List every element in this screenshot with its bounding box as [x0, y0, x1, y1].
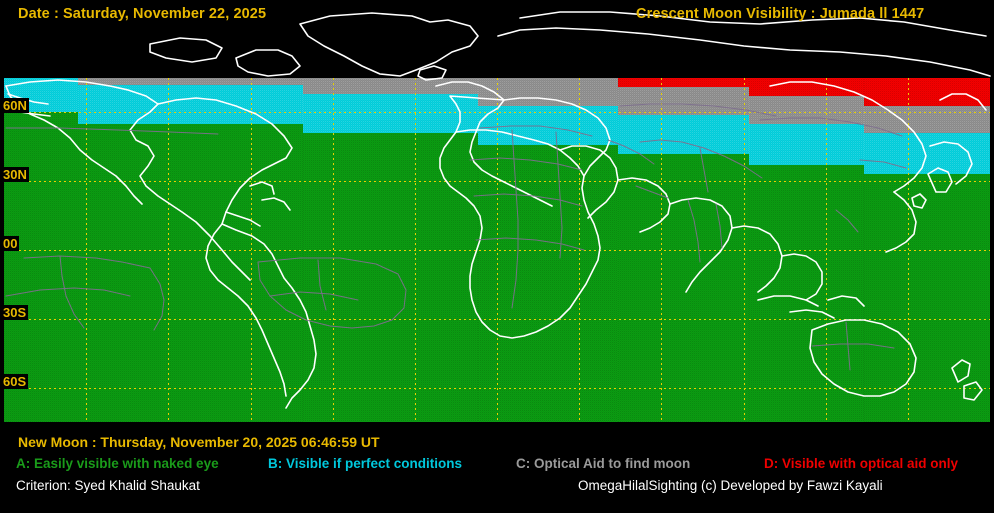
zone-dither-texture [618, 78, 749, 87]
zone-c-segment [749, 96, 864, 124]
zone-dither-texture [749, 96, 864, 124]
zone-a-segment [478, 145, 618, 422]
zone-b-segment [618, 115, 749, 154]
legend-item-a: A: Easily visible with naked eye [16, 456, 219, 471]
latitude-label-00: 00 [2, 236, 19, 251]
zone-a-segment [303, 133, 478, 422]
zone-a-segment [618, 154, 749, 422]
zone-a-segment [78, 124, 303, 422]
legend-item-d: D: Visible with optical aid only [764, 456, 958, 471]
date-label: Date : Saturday, November 22, 2025 [18, 6, 266, 22]
zone-dither-texture [78, 85, 303, 124]
zone-dither-texture [618, 115, 749, 154]
visibility-map-app: Date : Saturday, November 22, 2025 Cresc… [0, 0, 994, 513]
zone-dither-texture [78, 124, 303, 422]
zone-dither-texture [864, 174, 990, 422]
criterion-label: Criterion: Syed Khalid Shaukat [16, 478, 200, 493]
developer-credit-label: OmegaHilalSighting (c) Developed by Fawz… [578, 478, 883, 493]
zone-c-segment [864, 106, 990, 134]
zone-b-segment [303, 94, 478, 133]
zone-dither-texture [618, 154, 749, 422]
zone-dither-texture [303, 78, 478, 94]
header-bar: Date : Saturday, November 22, 2025 Cresc… [0, 0, 994, 30]
zone-b-segment [749, 124, 864, 165]
latitude-label-60N: 60N [2, 98, 29, 113]
zone-dither-texture [749, 124, 864, 165]
zone-b-segment [478, 106, 618, 145]
zone-dither-texture [864, 133, 990, 174]
legend: A: Easily visible with naked eye B: Visi… [0, 456, 994, 476]
zone-dither-texture [864, 106, 990, 134]
zone-dither-texture [303, 133, 478, 422]
zone-dither-texture [749, 165, 864, 422]
latitude-label-60S: 60S [2, 374, 28, 389]
zone-d-segment [864, 78, 990, 106]
credit-line: Criterion: Syed Khalid Shaukat OmegaHila… [0, 478, 994, 498]
zone-dither-texture [618, 87, 749, 115]
zone-b-segment [864, 133, 990, 174]
zone-d-segment [618, 78, 749, 87]
map-plot-area [4, 78, 990, 422]
zone-dither-texture [478, 145, 618, 422]
zone-dither-texture [864, 78, 990, 106]
zone-dither-texture [749, 78, 864, 96]
latitude-label-30S: 30S [2, 305, 28, 320]
legend-item-c: C: Optical Aid to find moon [516, 456, 690, 471]
zone-c-segment [618, 87, 749, 115]
zone-dither-texture [303, 94, 478, 133]
zone-a-segment [864, 174, 990, 422]
zone-d-segment [749, 78, 864, 96]
footer-bar: New Moon : Thursday, November 20, 2025 0… [0, 428, 994, 513]
zone-dither-texture [478, 78, 618, 106]
latitude-label-30N: 30N [2, 167, 29, 182]
zone-b-segment [78, 85, 303, 124]
new-moon-label: New Moon : Thursday, November 20, 2025 0… [18, 434, 380, 450]
zone-a-segment [749, 165, 864, 422]
visibility-title-label: Crescent Moon Visibility : Jumada ll 144… [636, 6, 924, 22]
legend-item-b: B: Visible if perfect conditions [268, 456, 462, 471]
zone-dither-texture [478, 106, 618, 145]
zone-c-segment [303, 78, 478, 94]
zone-c-segment [478, 78, 618, 106]
